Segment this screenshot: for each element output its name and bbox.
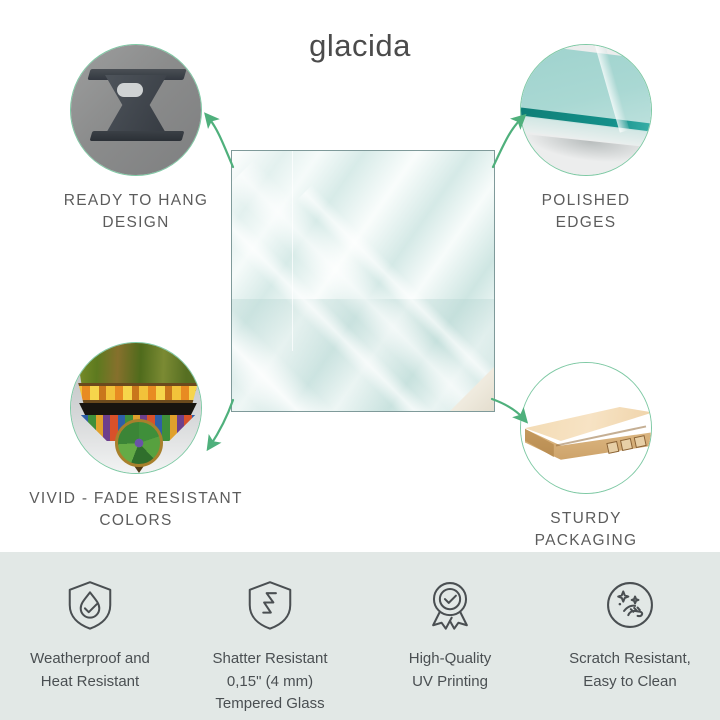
award-ribbon-check-icon: [423, 578, 477, 632]
benefit-weatherproof: Weatherproof and Heat Resistant: [2, 578, 178, 693]
shield-water-drop-check-icon: [63, 578, 117, 632]
benefit-label-scratch-resistant: Scratch Resistant, Easy to Clean: [569, 648, 691, 693]
benefit-label-weatherproof: Weatherproof and Heat Resistant: [30, 648, 150, 693]
infographic-page: glacida READY TO HANG DESIGN POLISHED ED…: [0, 0, 720, 720]
mosaic-amber-band: [73, 383, 202, 403]
glass-reflection-line: [292, 151, 293, 351]
shipping-mark: [606, 441, 619, 454]
mosaic-medallion: [115, 419, 163, 467]
shipping-mark: [620, 438, 633, 451]
feature-polished-edges: POLISHED EDGES: [520, 44, 716, 235]
bracket-keyhole-slot: [117, 83, 143, 97]
benefit-uv-printing: High-Quality UV Printing: [362, 578, 538, 693]
benefit-scratch-resistant: Scratch Resistant, Easy to Clean: [542, 578, 718, 693]
feature-caption-vivid-colors: VIVID - FADE RESISTANT COLORS: [6, 488, 266, 533]
benefits-band: Weatherproof and Heat Resistant Shatter …: [0, 552, 720, 720]
feature-caption-ready-to-hang: READY TO HANG DESIGN: [6, 190, 266, 235]
shield-lightning-bolt-icon: [243, 578, 297, 632]
mosaic-background: [71, 343, 201, 473]
box-shipping-marks: [606, 435, 646, 454]
glass-edge-photo-icon: [520, 44, 652, 176]
edge-background: [521, 45, 651, 175]
box-background: [521, 363, 651, 493]
stained-glass-art-photo-icon: [70, 342, 202, 474]
benefit-label-shatter-resistant: Shatter Resistant 0,15" (4 mm) Tempered …: [212, 648, 327, 716]
sparkle-cleaning-hand-icon: [603, 578, 657, 632]
mosaic-dark-band: [74, 403, 202, 416]
hanging-bracket-photo-icon: [70, 44, 202, 176]
arrow-to-polished-edges: [493, 118, 522, 167]
bracket-bottom-plate: [90, 131, 185, 141]
tempered-glass-panel: [231, 150, 495, 412]
bracket-background: [71, 45, 201, 175]
feature-caption-sturdy-packaging: STURDY PACKAGING: [456, 508, 716, 553]
benefit-shatter-resistant: Shatter Resistant 0,15" (4 mm) Tempered …: [182, 578, 358, 716]
feature-sturdy-packaging: STURDY PACKAGING: [520, 362, 716, 553]
shipping-mark: [634, 435, 647, 448]
feature-caption-polished-edges: POLISHED EDGES: [456, 190, 716, 235]
cardboard-box-photo-icon: [520, 362, 652, 494]
benefit-label-uv-printing: High-Quality UV Printing: [409, 648, 492, 693]
